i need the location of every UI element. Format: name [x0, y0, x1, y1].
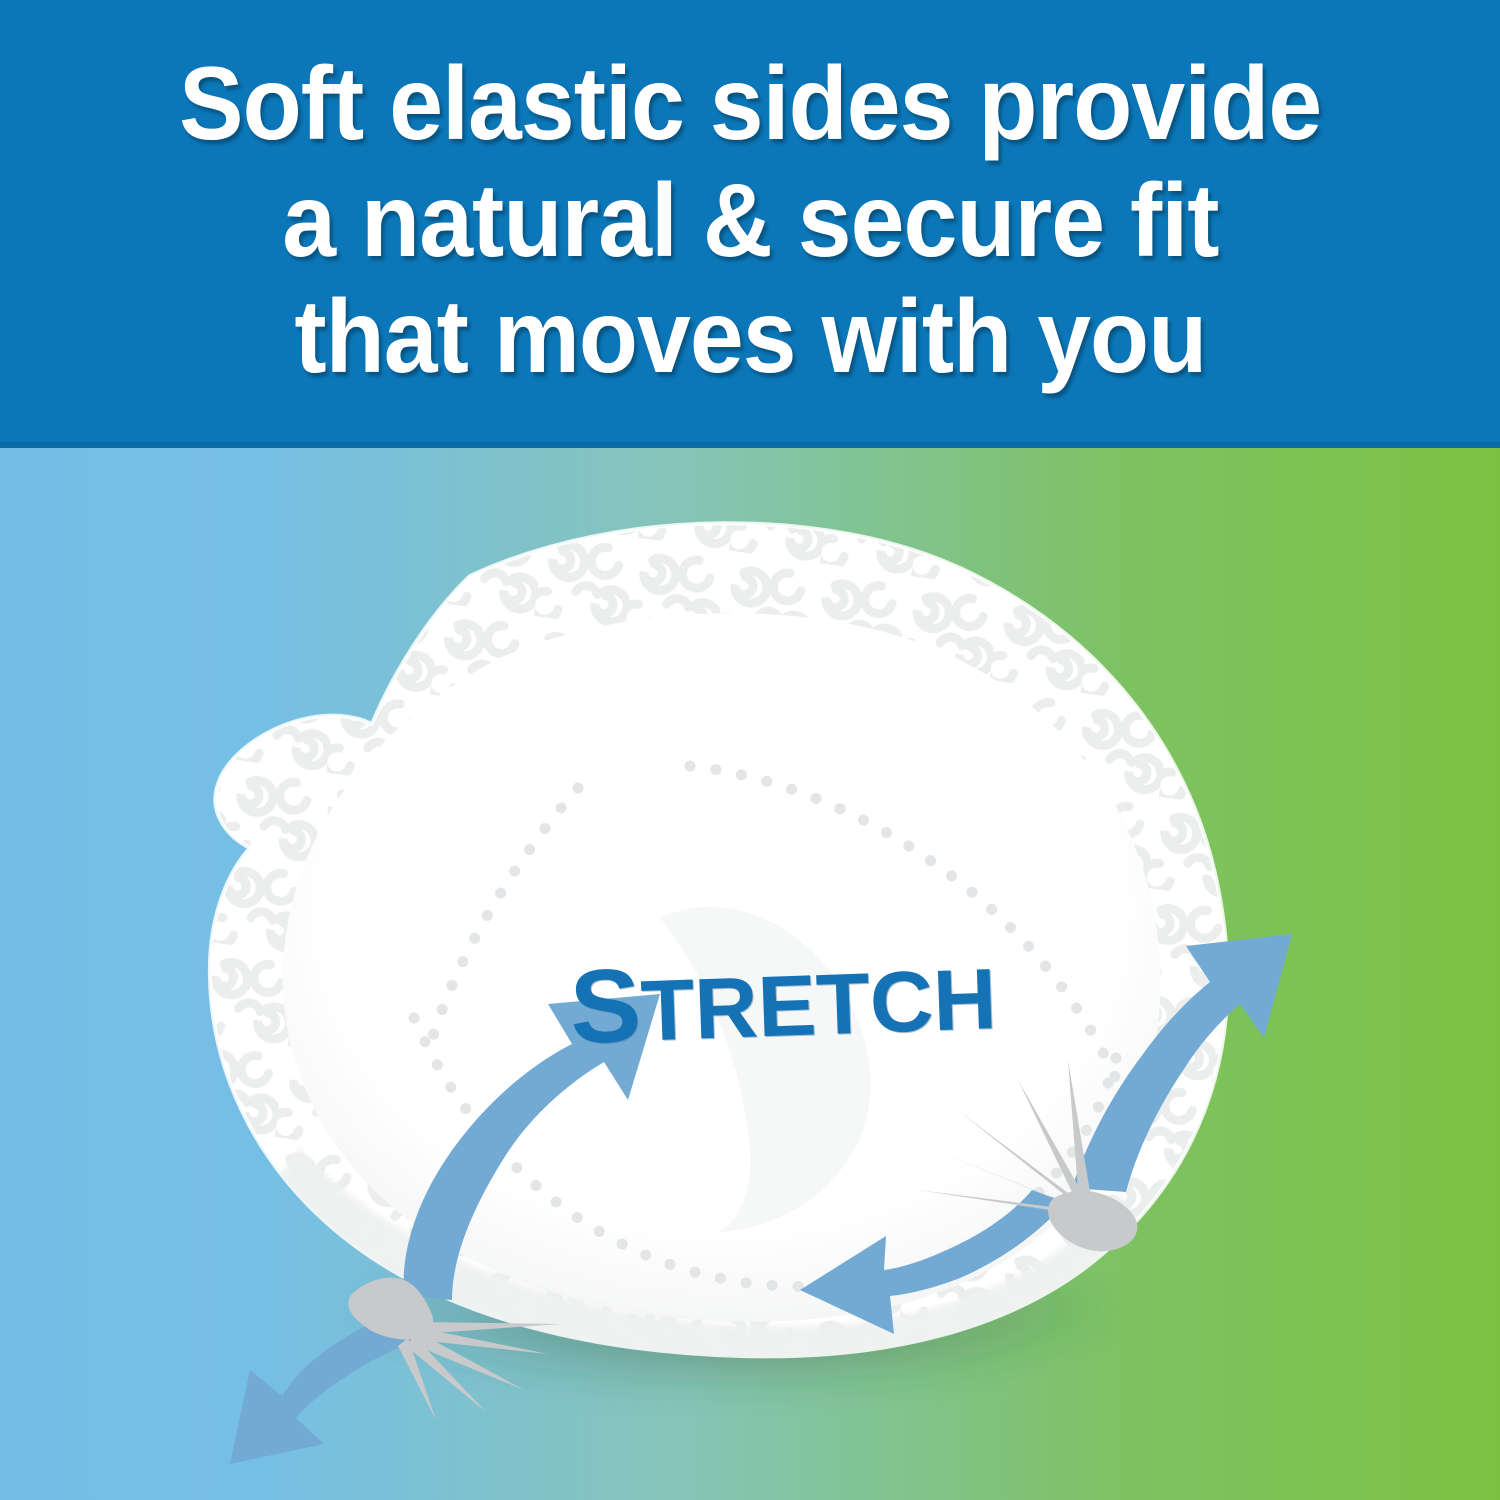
product-showcase-area: STRETCH — [0, 448, 1500, 1500]
headline-banner: Soft elastic sides provide a natural & s… — [0, 0, 1500, 448]
product-feature-image: Soft elastic sides provide a natural & s… — [0, 0, 1500, 1500]
stretch-label-cap: S — [568, 948, 643, 1066]
stretch-label-rest: TRETCH — [639, 951, 998, 1059]
headline-line-2: a natural & secure fit — [282, 163, 1218, 279]
headline-line-3: that moves with you — [294, 279, 1206, 395]
headline-line-1: Soft elastic sides provide — [179, 46, 1321, 162]
stretch-label: STRETCH — [568, 941, 998, 1060]
